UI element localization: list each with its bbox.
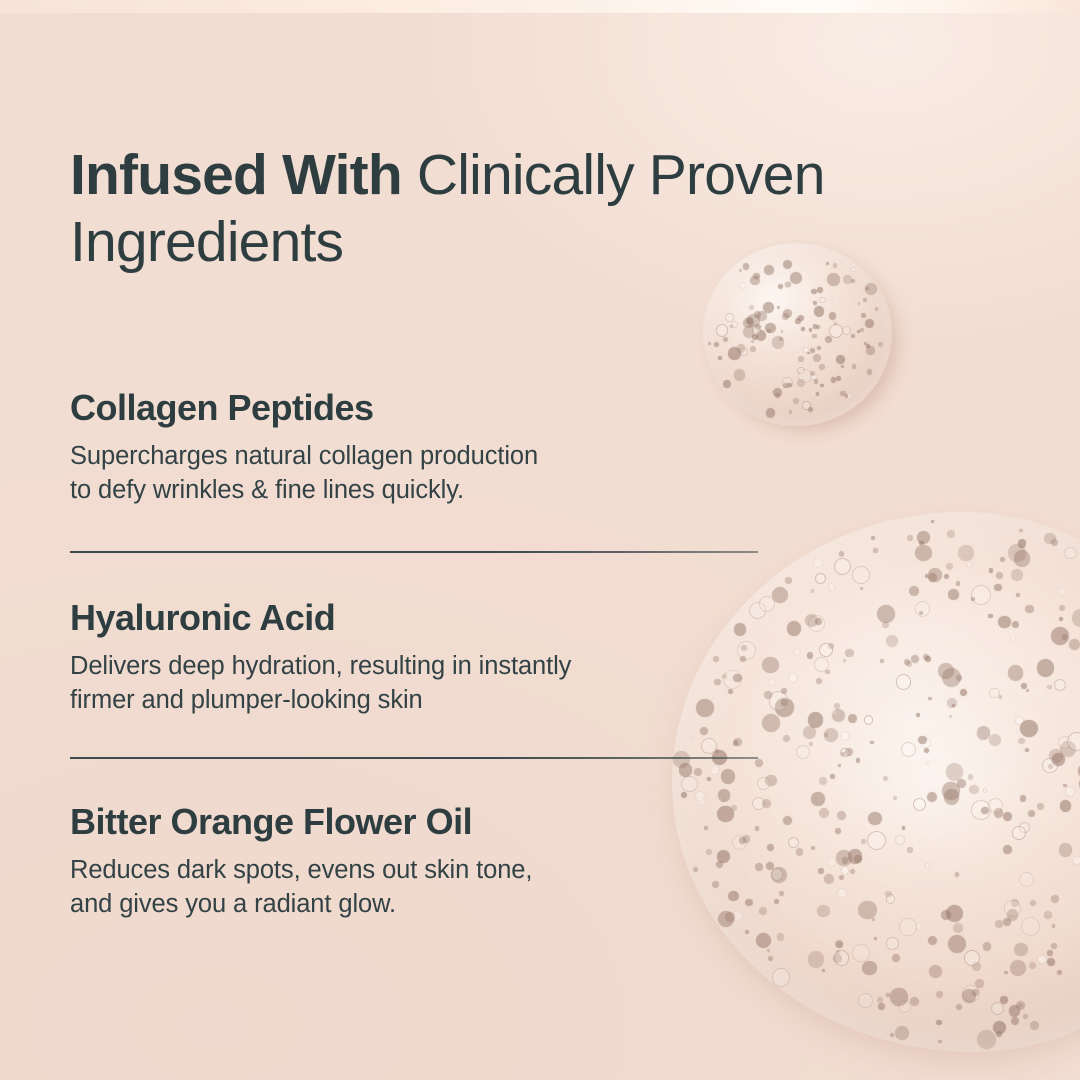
infographic-canvas: Infused With Clinically Proven Ingredien… [0, 0, 1080, 1080]
section-divider [70, 551, 758, 553]
ingredient-description: Supercharges natural collagen production… [70, 440, 790, 508]
ingredient-block-bitter-orange-flower-oil: Bitter Orange Flower Oil Reduces dark sp… [70, 802, 790, 921]
page-title-bold: Infused With [70, 143, 417, 207]
content-layer: Infused With Clinically Proven Ingredien… [0, 0, 1080, 1080]
ingredient-description: Reduces dark spots, evens out skin tone,… [70, 854, 790, 922]
ingredient-block-collagen-peptides: Collagen Peptides Supercharges natural c… [70, 388, 790, 507]
page-title: Infused With Clinically Proven Ingredien… [70, 142, 830, 275]
section-divider [70, 757, 758, 759]
ingredient-title: Bitter Orange Flower Oil [70, 802, 790, 842]
ingredient-block-hyaluronic-acid: Hyaluronic Acid Delivers deep hydration,… [70, 598, 790, 717]
ingredient-title: Hyaluronic Acid [70, 598, 790, 638]
ingredient-title: Collagen Peptides [70, 388, 790, 428]
ingredient-description: Delivers deep hydration, resulting in in… [70, 650, 790, 718]
